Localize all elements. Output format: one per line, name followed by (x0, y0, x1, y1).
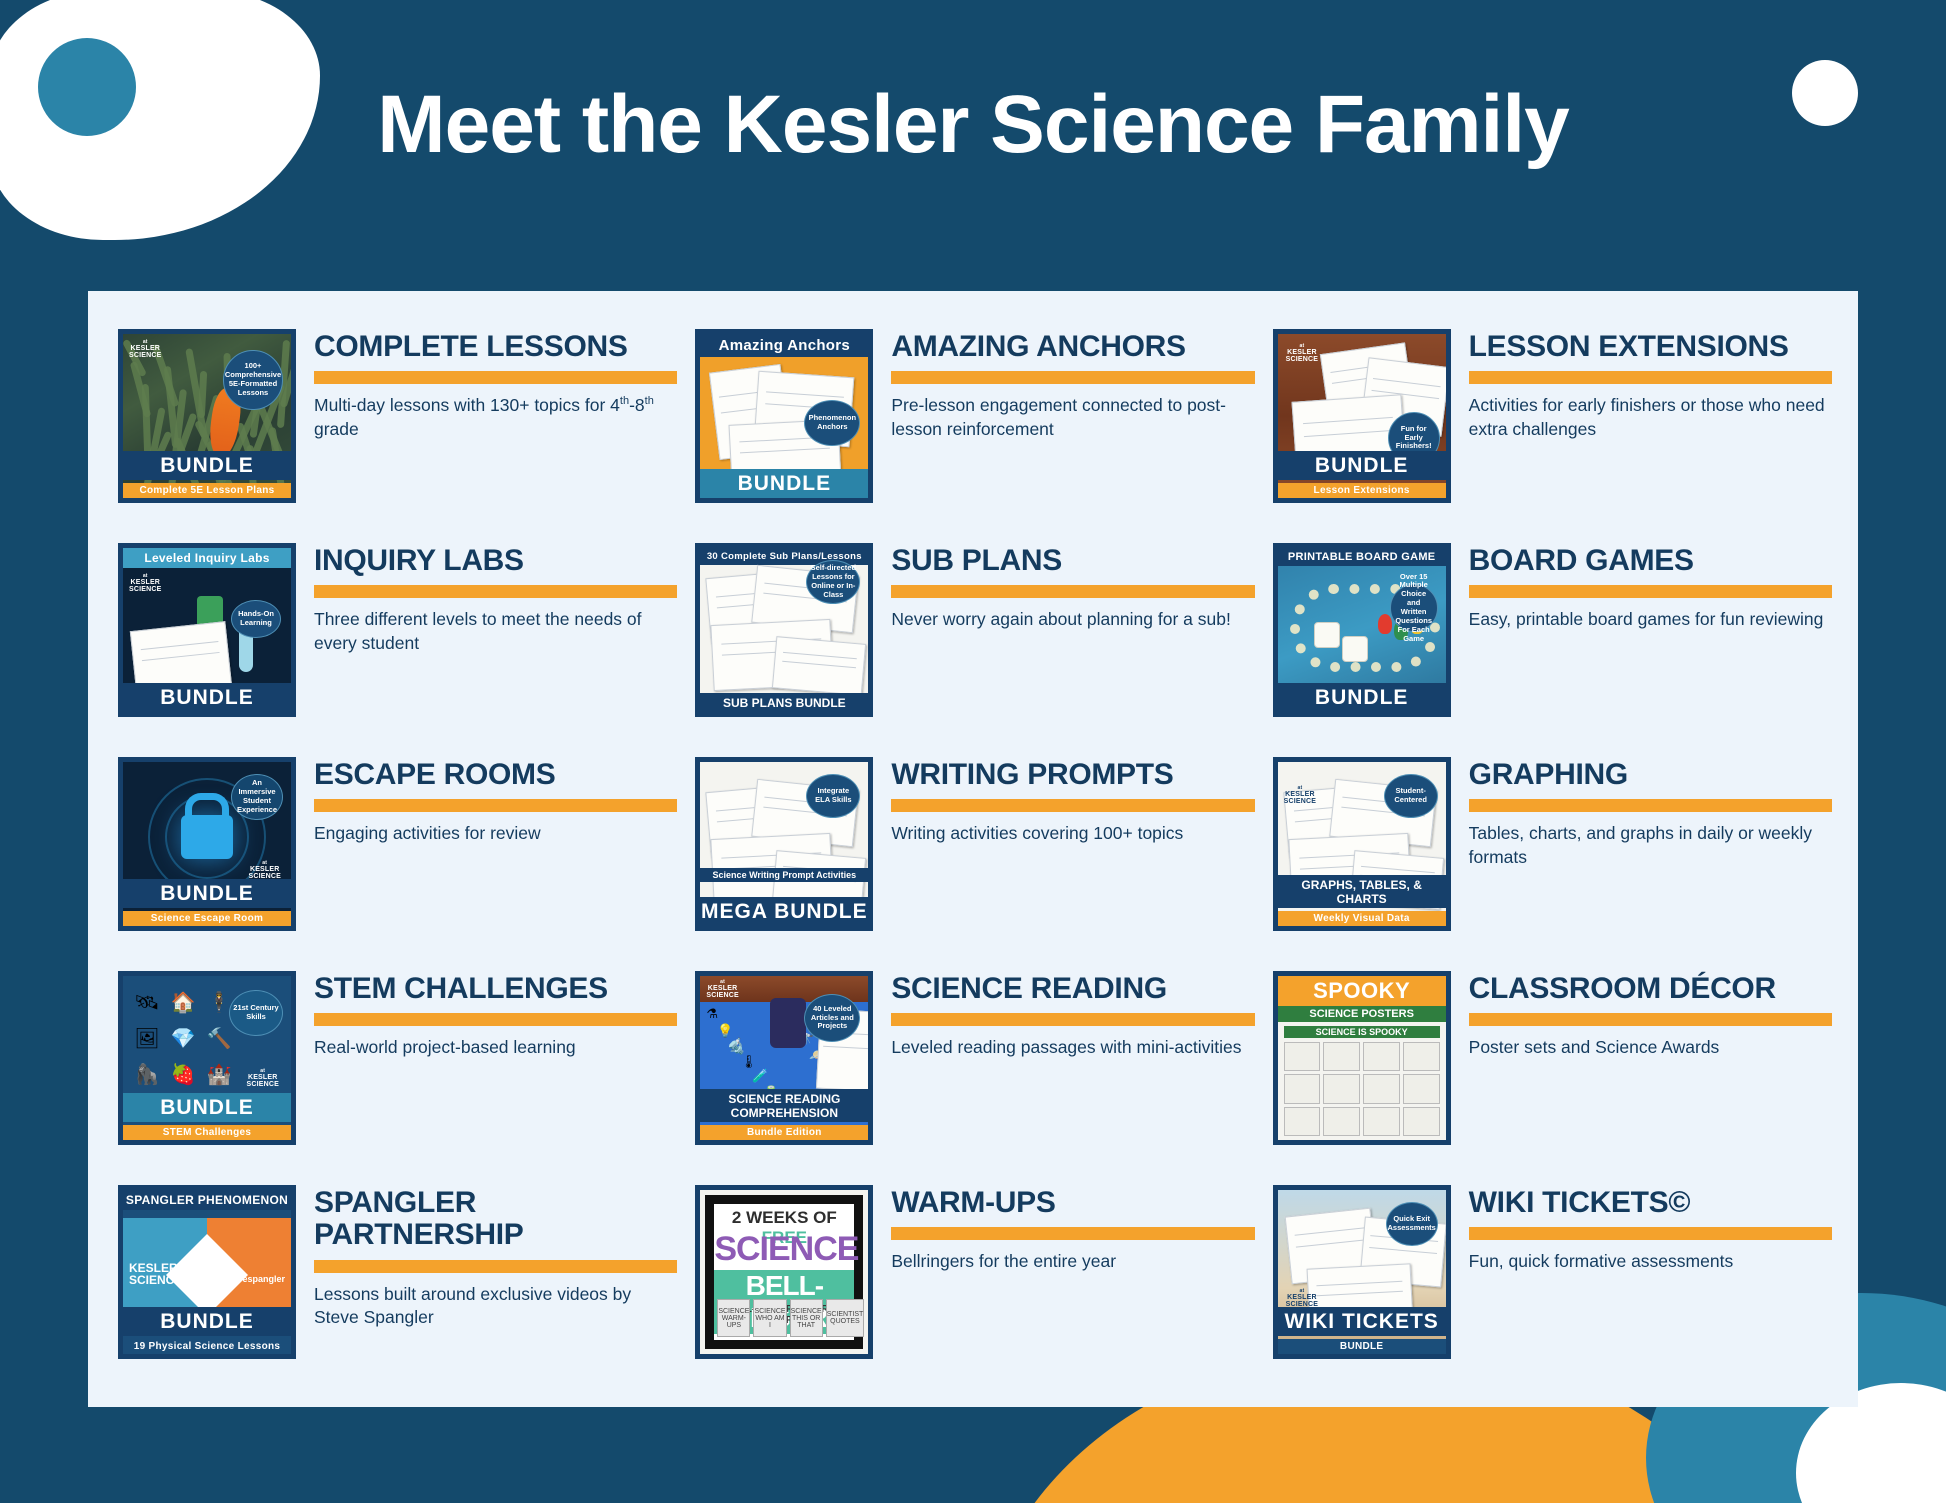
thumb-sub-top-label: SCIENCE POSTERS (1278, 1006, 1446, 1022)
orange-rule (1469, 1227, 1832, 1240)
thumb-bundle-label: BUNDLE (1278, 451, 1446, 480)
thumb-mid-label: Science Writing Prompt Activities (700, 868, 868, 882)
product-thumbnail[interactable]: Amazing AnchorsPhenomenon Anchors BUNDLE (695, 329, 873, 503)
thumbnail-wrap: atKESLERSCIENCEQuick Exit Assessments BU… (1269, 1177, 1455, 1359)
orange-rule (1469, 371, 1832, 384)
product-description: Engaging activities for review (314, 822, 677, 846)
thumb-top-label: SPOOKY (1278, 976, 1446, 1006)
poster-thumb (1363, 1107, 1400, 1136)
thumbnail-wrap: atKESLERSCIENCEStudent-Centered Weekly V… (1269, 749, 1455, 931)
product-heading: SPANGLER PARTNERSHIP (314, 1187, 677, 1252)
orange-rule (891, 585, 1254, 598)
poster-thumb (1363, 1042, 1400, 1071)
poster-grid (1284, 1042, 1440, 1136)
product-text: SCIENCE READING Leveled reading passages… (877, 963, 1254, 1060)
product-text: WIKI TICKETS© Fun, quick formative asses… (1455, 1177, 1832, 1274)
orange-rule (1469, 585, 1832, 598)
thumbnail-wrap: PRINTABLE BOARD GAMEOver 15 Multiple Cho… (1269, 535, 1455, 717)
product-grid: atKESLERSCIENCE100+ Comprehensive 5E-For… (110, 315, 1836, 1385)
product-thumbnail[interactable]: SPANGLER PHENOMENONKESLERSCIENCEstevespa… (118, 1185, 296, 1359)
product-description: Bellringers for the entire year (891, 1250, 1254, 1274)
product-item[interactable]: SPANGLER PHENOMENONKESLERSCIENCEstevespa… (110, 1171, 681, 1385)
thumb-bundle-label: SCIENCE READING COMPREHENSION (700, 1089, 868, 1122)
spooky-tag: SCIENCE IS SPOOKY (1284, 1026, 1440, 1038)
orange-rule (891, 799, 1254, 812)
product-heading: STEM CHALLENGES (314, 973, 677, 1005)
kesler-logo: atKESLERSCIENCE (248, 861, 281, 880)
spangler-wordmark: stevespangler (224, 1274, 285, 1284)
thumb-badge: Quick Exit Assessments (1386, 1202, 1438, 1246)
poster-thumb (1284, 1107, 1321, 1136)
orange-rule (314, 799, 677, 812)
thumb-top-label: Leveled Inquiry Labs (123, 548, 291, 568)
product-text: SUB PLANS Never worry again about planni… (877, 535, 1254, 632)
bell-sample-strip: SCIENCE WARM-UPSSCIENCE WHO AM ISCIENCE … (717, 1299, 851, 1337)
product-description: Real-world project-based learning (314, 1036, 677, 1060)
product-thumbnail[interactable]: atKESLERSCIENCE100+ Comprehensive 5E-For… (118, 329, 296, 503)
orange-rule (891, 371, 1254, 384)
poster-thumb (1403, 1042, 1440, 1071)
product-description: Never worry again about planning for a s… (891, 608, 1254, 632)
kesler-wordmark: KESLERSCIENCE (129, 1262, 182, 1286)
product-item[interactable]: 2 WEEKS OF FREE SCIENCE BELL-RINGERS FUL… (687, 1171, 1258, 1385)
thumb-badge: An Immersive Student Experience (231, 774, 283, 820)
bell-sample-cell: SCIENCE WHO AM I (753, 1299, 786, 1337)
orange-rule (891, 1013, 1254, 1026)
product-text: CLASSROOM DÉCOR Poster sets and Science … (1455, 963, 1832, 1060)
product-heading: SCIENCE READING (891, 973, 1254, 1005)
thumb-top-label: Amazing Anchors (700, 334, 868, 357)
thumb-badge: Integrate ELA Skills (806, 774, 860, 818)
science-doodle: 💡 (717, 1023, 733, 1039)
product-description: Lessons built around exclusive videos by… (314, 1283, 677, 1330)
thumb-badge: Phenomenon Anchors (804, 400, 860, 446)
poster-thumb (1363, 1074, 1400, 1103)
thumb-sub-label: Weekly Visual Data (1278, 911, 1446, 926)
orange-rule (1469, 799, 1832, 812)
product-text: INQUIRY LABS Three different levels to m… (300, 535, 677, 656)
product-heading: BOARD GAMES (1469, 545, 1832, 577)
product-description: Fun, quick formative assessments (1469, 1250, 1832, 1274)
product-item[interactable]: Amazing AnchorsPhenomenon Anchors BUNDLE… (687, 315, 1258, 529)
product-item[interactable]: atKESLERSCIENCEStudent-Centered Weekly V… (1265, 743, 1836, 957)
product-thumbnail[interactable]: Leveled Inquiry Labs atKESLERSCIENCEHand… (118, 543, 296, 717)
product-item[interactable]: Leveled Inquiry Labs atKESLERSCIENCEHand… (110, 529, 681, 743)
thumb-sub-label: BUNDLE (1278, 1339, 1446, 1354)
product-text: WARM-UPS Bellringers for the entire year (877, 1177, 1254, 1274)
science-doodle: ⚗ (706, 1006, 718, 1022)
bell-poster: 2 WEEKS OF FREE SCIENCE BELL-RINGERS FUL… (705, 1195, 863, 1349)
stem-icon: 🔨 (205, 1024, 233, 1052)
product-description: Poster sets and Science Awards (1469, 1036, 1832, 1060)
thumb-badge: Over 15 Multiple Choice and Written Ques… (1390, 584, 1438, 632)
thumb-top-label: SPANGLER PHENOMENON (123, 1190, 291, 1210)
product-text: GRAPHING Tables, charts, and graphs in d… (1455, 749, 1832, 870)
product-thumbnail[interactable]: atKESLERSCIENCEStudent-Centered Weekly V… (1273, 757, 1451, 931)
thumb-sub-label: Complete 5E Lesson Plans (123, 483, 291, 498)
thumb-badge: Self-directed Lessons for Online or In-C… (806, 560, 860, 604)
product-description: Pre-lesson engagement connected to post-… (891, 394, 1254, 441)
product-heading: INQUIRY LABS (314, 545, 677, 577)
product-heading: SUB PLANS (891, 545, 1254, 577)
poster-thumb (1323, 1042, 1360, 1071)
thumbnail-wrap: atKESLERSCIENCE100+ Comprehensive 5E-For… (114, 321, 300, 503)
bell-sample-cell: SCIENCE WARM-UPS (717, 1299, 750, 1337)
thumbnail-wrap: 🛰🏠🕴🖼💎🔨🦍🍓🏰🏫🌳🔑21st Century Skills atKESLER… (114, 963, 300, 1145)
thumb-badge: 40 Leveled Articles and Projects (804, 994, 860, 1042)
orange-rule (891, 1227, 1254, 1240)
thumb-bundle-label: WIKI TICKETS (1278, 1307, 1446, 1336)
product-item[interactable]: 🛰🏠🕴🖼💎🔨🦍🍓🏰🏫🌳🔑21st Century Skills atKESLER… (110, 957, 681, 1171)
thumb-bundle-label: BUNDLE (1278, 683, 1446, 712)
thumbnail-wrap: ⚗🔬🧪☢🔭⚛🧲💡🌡🔋🧫🪐🧬⚙🔩 atKESLERSCIENCE40 Levele… (691, 963, 877, 1145)
thumbnail-artwork: SPOOKYSCIENCE POSTERSSCIENCE IS SPOOKY (1278, 976, 1446, 1140)
kesler-logo: atKESLERSCIENCE (129, 574, 162, 593)
product-heading: LESSON EXTENSIONS (1469, 331, 1832, 363)
kesler-logo: atKESLERSCIENCE (1286, 1289, 1319, 1308)
kesler-logo: atKESLERSCIENCE (1284, 786, 1317, 805)
thumb-top-label: PRINTABLE BOARD GAME (1278, 548, 1446, 566)
kesler-logo: atKESLERSCIENCE (129, 340, 162, 359)
product-item[interactable]: atKESLERSCIENCEQuick Exit Assessments BU… (1265, 1171, 1836, 1385)
product-item[interactable]: atKESLERSCIENCEFun for Early Finishers! … (1265, 315, 1836, 529)
thumb-sub-label: STEM Challenges (123, 1125, 291, 1140)
product-heading: WARM-UPS (891, 1187, 1254, 1219)
product-item[interactable]: Science Writing Prompt ActivitiesIntegra… (687, 743, 1258, 957)
product-thumbnail[interactable]: 30 Complete Sub Plans/LessonsSelf-direct… (695, 543, 873, 717)
thumb-bundle-label: SUB PLANS BUNDLE (700, 693, 868, 712)
anemone-frond (198, 371, 207, 418)
dice (1342, 636, 1368, 662)
product-heading: CLASSROOM DÉCOR (1469, 973, 1832, 1005)
thumbnail-wrap: An Immersive Student Experience atKESLER… (114, 749, 300, 931)
product-thumbnail[interactable]: Science Writing Prompt ActivitiesIntegra… (695, 757, 873, 931)
thumb-bundle-label: BUNDLE (123, 1093, 291, 1122)
product-text: BOARD GAMES Easy, printable board games … (1455, 535, 1832, 632)
thumb-bundle-label: BUNDLE (123, 1307, 291, 1336)
paper-sheet (772, 636, 866, 696)
thumb-sub-label: Science Escape Room (123, 911, 291, 926)
stem-icon: 🖼 (133, 1024, 161, 1052)
orange-rule (314, 1013, 677, 1026)
product-text: AMAZING ANCHORS Pre-lesson engagement co… (877, 321, 1254, 442)
product-heading: AMAZING ANCHORS (891, 331, 1254, 363)
thumbnail-wrap: SPANGLER PHENOMENONKESLERSCIENCEstevespa… (114, 1177, 300, 1359)
bell-sample-cell: SCIENTIST QUOTES (826, 1299, 864, 1337)
poster-thumb (1323, 1074, 1360, 1103)
bell-sample-cell: SCIENCE THIS OR THAT (790, 1299, 823, 1337)
product-item[interactable]: ⚗🔬🧪☢🔭⚛🧲💡🌡🔋🧫🪐🧬⚙🔩 atKESLERSCIENCE40 Levele… (687, 957, 1258, 1171)
thumb-bundle-label: GRAPHS, TABLES, & CHARTS (1278, 875, 1446, 908)
product-thumbnail[interactable]: ⚗🔬🧪☢🔭⚛🧲💡🌡🔋🧫🪐🧬⚙🔩 atKESLERSCIENCE40 Levele… (695, 971, 873, 1145)
orange-rule (314, 585, 677, 598)
poster-thumb (1284, 1042, 1321, 1071)
science-doodle: 🌡 (740, 1054, 757, 1070)
thumbnail-wrap: 30 Complete Sub Plans/LessonsSelf-direct… (691, 535, 877, 717)
thumb-bundle-label: BUNDLE (123, 879, 291, 908)
kesler-logo: atKESLERSCIENCE (246, 1069, 279, 1088)
thumb-sub-label: Bundle Edition (700, 1125, 868, 1140)
product-heading: WRITING PROMPTS (891, 759, 1254, 791)
thumb-badge: Hands-On Learning (231, 600, 281, 638)
binoculars (770, 998, 806, 1048)
lock-icon (181, 815, 233, 859)
stem-icon: 🏠 (169, 988, 197, 1016)
orange-rule (314, 371, 677, 384)
product-thumbnail[interactable]: 🛰🏠🕴🖼💎🔨🦍🍓🏰🏫🌳🔑21st Century Skills atKESLER… (118, 971, 296, 1145)
poster-thumb (1403, 1107, 1440, 1136)
product-heading: ESCAPE ROOMS (314, 759, 677, 791)
poster-thumb (1403, 1074, 1440, 1103)
product-text: LESSON EXTENSIONS Activities for early f… (1455, 321, 1832, 442)
product-item[interactable]: 30 Complete Sub Plans/LessonsSelf-direct… (687, 529, 1258, 743)
infographic-page: Meet the Kesler Science Family atKESLERS… (0, 0, 1946, 1503)
product-thumbnail[interactable]: An Immersive Student Experience atKESLER… (118, 757, 296, 931)
thumbnail-wrap: SPOOKYSCIENCE POSTERSSCIENCE IS SPOOKY (1269, 963, 1455, 1145)
thumb-bundle-label: BUNDLE (700, 469, 868, 498)
product-text: COMPLETE LESSONS Multi-day lessons with … (300, 321, 677, 442)
thumbnail-wrap: 2 WEEKS OF FREE SCIENCE BELL-RINGERS FUL… (691, 1177, 877, 1359)
science-doodle: 🧪 (752, 1068, 768, 1084)
product-heading: WIKI TICKETS© (1469, 1187, 1832, 1219)
product-description: Tables, charts, and graphs in daily or w… (1469, 822, 1832, 869)
product-item[interactable]: atKESLERSCIENCE100+ Comprehensive 5E-For… (110, 315, 681, 529)
stem-icon: 🛰 (133, 988, 161, 1016)
product-item[interactable]: PRINTABLE BOARD GAMEOver 15 Multiple Cho… (1265, 529, 1836, 743)
stem-icon: 🏰 (205, 1060, 233, 1088)
stem-icon: 🍓 (169, 1060, 197, 1088)
game-token (1378, 614, 1392, 634)
thumb-bundle-label: BUNDLE (123, 683, 291, 712)
bell-poster-inner: 2 WEEKS OF FREE SCIENCE BELL-RINGERS FUL… (714, 1204, 854, 1340)
product-description: Multi-day lessons with 130+ topics for 4… (314, 394, 677, 441)
product-heading: COMPLETE LESSONS (314, 331, 677, 363)
product-item[interactable]: An Immersive Student Experience atKESLER… (110, 743, 681, 957)
product-item[interactable]: SPOOKYSCIENCE POSTERSSCIENCE IS SPOOKY C… (1265, 957, 1836, 1171)
dice (1314, 622, 1340, 648)
thumbnail-wrap: Amazing AnchorsPhenomenon Anchors BUNDLE (691, 321, 877, 503)
thumbnail-artwork: 30 Complete Sub Plans/LessonsSelf-direct… (700, 548, 868, 712)
thumb-bundle-label: MEGA BUNDLE (700, 897, 868, 926)
orange-rule (314, 1260, 677, 1273)
product-text: SPANGLER PARTNERSHIP Lessons built aroun… (300, 1177, 677, 1330)
product-description: Activities for early finishers or those … (1469, 394, 1832, 441)
thumb-sub-label: 19 Physical Science Lessons (123, 1339, 291, 1354)
product-text: WRITING PROMPTS Writing activities cover… (877, 749, 1254, 846)
thumbnail-artwork: 2 WEEKS OF FREE SCIENCE BELL-RINGERS FUL… (700, 1190, 868, 1354)
thumb-badge: 21st Century Skills (229, 990, 283, 1036)
bell-line-2: SCIENCE (714, 1230, 854, 1269)
product-description: Leveled reading passages with mini-activ… (891, 1036, 1254, 1060)
thumbnail-wrap: atKESLERSCIENCEFun for Early Finishers! … (1269, 321, 1455, 503)
poster-thumb (1323, 1107, 1360, 1136)
content-panel: atKESLERSCIENCE100+ Comprehensive 5E-For… (88, 291, 1858, 1407)
page-title: Meet the Kesler Science Family (0, 78, 1946, 172)
thumb-bundle-label: BUNDLE (123, 451, 291, 480)
orange-rule (1469, 1013, 1832, 1026)
thumbnail-wrap: Science Writing Prompt ActivitiesIntegra… (691, 749, 877, 931)
product-thumbnail[interactable]: PRINTABLE BOARD GAMEOver 15 Multiple Cho… (1273, 543, 1451, 717)
product-heading: GRAPHING (1469, 759, 1832, 791)
product-thumbnail[interactable]: 2 WEEKS OF FREE SCIENCE BELL-RINGERS FUL… (695, 1185, 873, 1359)
product-description: Writing activities covering 100+ topics (891, 822, 1254, 846)
stem-icon: 💎 (169, 1024, 197, 1052)
product-thumbnail[interactable]: atKESLERSCIENCEQuick Exit Assessments BU… (1273, 1185, 1451, 1359)
product-thumbnail[interactable]: SPOOKYSCIENCE POSTERSSCIENCE IS SPOOKY (1273, 971, 1451, 1145)
kesler-logo: atKESLERSCIENCE (1286, 344, 1319, 363)
kesler-logo: atKESLERSCIENCE (706, 980, 739, 999)
product-thumbnail[interactable]: atKESLERSCIENCEFun for Early Finishers! … (1273, 329, 1451, 503)
product-description: Easy, printable board games for fun revi… (1469, 608, 1832, 632)
poster-thumb (1284, 1074, 1321, 1103)
product-text: STEM CHALLENGES Real-world project-based… (300, 963, 677, 1060)
thumbnail-wrap: Leveled Inquiry Labs atKESLERSCIENCEHand… (114, 535, 300, 717)
science-doodle: 🔩 (728, 1040, 744, 1056)
thumb-badge: 100+ Comprehensive 5E-Formatted Lessons (223, 350, 283, 410)
thumb-sub-label: Lesson Extensions (1278, 483, 1446, 498)
thumb-badge: Student-Centered (1384, 774, 1438, 818)
stem-icon: 🦍 (133, 1060, 161, 1088)
product-description: Three different levels to meet the needs… (314, 608, 677, 655)
product-text: ESCAPE ROOMS Engaging activities for rev… (300, 749, 677, 846)
